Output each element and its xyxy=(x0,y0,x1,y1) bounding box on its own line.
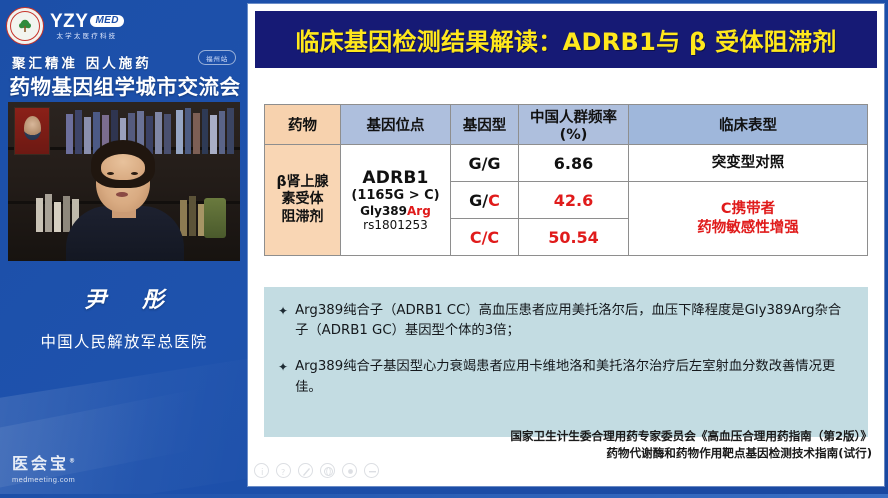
pen-icon[interactable] xyxy=(298,463,313,478)
drug-line-1: β肾上腺 xyxy=(276,174,328,190)
help-icon[interactable]: ? xyxy=(276,463,291,478)
cell-genotype-row2: G/C xyxy=(451,182,519,219)
event-title: 药物基因组学城市交流会 xyxy=(9,70,241,100)
record-icon[interactable] xyxy=(342,463,357,478)
screen-root: YZY MED 太学太医疗科技 聚汇精准 因人施药 福州站 药物基因组学城市交流… xyxy=(0,0,888,498)
cell-frequency-row2: 42.6 xyxy=(519,182,629,219)
citation-line-2: 药物代谢酶和药物作用靶点基因检测技术指南(试行) xyxy=(432,445,872,462)
info-icon[interactable]: i xyxy=(254,463,269,478)
frequency-header-line1: 中国人群频率 xyxy=(530,110,617,126)
phenotype-merged-line1: C携带者 xyxy=(721,201,775,217)
slide-title-bar: 临床基因检测结果解读：ADRB1与 β 受体阻滞剂 xyxy=(255,11,877,68)
svg-text:i: i xyxy=(261,468,264,477)
cell-genotype-row1: G/G xyxy=(451,145,519,182)
watermark: 医会宝® medmeeting.com xyxy=(12,450,75,484)
diamond-bullet-icon: ✦ xyxy=(278,301,288,341)
minus-icon[interactable] xyxy=(364,463,379,478)
brand-subtitle: 太学太医疗科技 xyxy=(50,34,124,41)
drug-line-3: 阻滞剂 xyxy=(282,209,324,225)
genotype-text-1: G/G xyxy=(468,154,500,173)
table-row: β肾上腺 素受体 阻滞剂 ADRB1 (1165G > C) Gly389Arg… xyxy=(265,145,868,182)
speaker-mouth xyxy=(116,192,128,197)
genotype-text-2: G/ xyxy=(469,191,488,210)
column-header-genotype: 基因型 xyxy=(451,105,519,145)
cell-phenotype-row1: 突变型对照 xyxy=(629,145,868,182)
books-group-upper-right xyxy=(176,108,234,154)
list-item: ✦ Arg389纯合子（ADRB1 CC）高血压患者应用美托洛尔后，血压下降程度… xyxy=(278,301,852,341)
column-header-phenotype: 临床表型 xyxy=(629,105,868,145)
cell-locus: ADRB1 (1165G > C) Gly389Arg rs1801253 xyxy=(341,145,451,256)
city-badge: 福州站 xyxy=(198,50,236,65)
slide-area[interactable]: 临床基因检测结果解读：ADRB1与 β 受体阻滞剂 药物 基因位点 基因型 中国… xyxy=(248,4,884,486)
note-text-1: Arg389纯合子（ADRB1 CC）高血压患者应用美托洛尔后，血压下降程度是G… xyxy=(295,301,852,341)
citation-line-1: 国家卫生计生委合理用药专家委员会《高血压合理用药指南（第2版）》 xyxy=(432,428,872,445)
framed-portrait-decor xyxy=(14,107,50,155)
playback-control-overlay[interactable]: i ? xyxy=(254,463,379,478)
left-branding-panel: YZY MED 太学太医疗科技 聚汇精准 因人施药 福州站 药物基因组学城市交流… xyxy=(0,0,248,498)
bottom-accent-strip xyxy=(0,494,888,498)
brand-name-text: YZY xyxy=(50,12,88,31)
globe-icon[interactable] xyxy=(320,463,335,478)
table-header-row: 药物 基因位点 基因型 中国人群频率 (%) 临床表型 xyxy=(265,105,868,145)
note-text-2: Arg389纯合子基因型心力衰竭患者应用卡维地洛和美托洛尔治疗后左室射血分数改善… xyxy=(295,357,852,397)
speaker-video-feed[interactable] xyxy=(8,102,240,261)
column-header-drug: 药物 xyxy=(265,105,341,145)
locus-rsid: rs1801253 xyxy=(343,218,448,232)
registered-mark-icon: ® xyxy=(69,458,75,465)
notes-panel: ✦ Arg389纯合子（ADRB1 CC）高血压患者应用美托洛尔后，血压下降程度… xyxy=(264,287,868,437)
genotype-red-3: C xyxy=(487,228,499,247)
cell-phenotype-merged: C携带者 药物敏感性增强 xyxy=(629,182,868,256)
locus-protein-suffix: Arg xyxy=(407,204,431,218)
cell-genotype-row3: C/C xyxy=(451,219,519,256)
genotype-red-2: C xyxy=(488,191,500,210)
brand-badge: MED xyxy=(90,15,123,27)
watermark-brand: 医会宝® xyxy=(12,450,75,474)
column-header-locus: 基因位点 xyxy=(341,105,451,145)
tree-seal-icon xyxy=(6,7,44,45)
brand-wordmark: YZY MED 太学太医疗科技 xyxy=(50,12,124,41)
citation-block: 国家卫生计生委合理用药专家委员会《高血压合理用药指南（第2版）》 药物代谢酶和药… xyxy=(432,428,872,462)
speaker-name: 尹 彤 xyxy=(0,282,248,314)
phenotype-merged-line2: 药物敏感性增强 xyxy=(697,220,799,236)
watermark-url: medmeeting.com xyxy=(12,475,75,484)
event-tagline: 聚汇精准 因人施药 xyxy=(12,52,152,72)
speaker-hair xyxy=(91,140,155,188)
cell-frequency-row1: 6.86 xyxy=(519,145,629,182)
diamond-bullet-icon: ✦ xyxy=(278,357,288,397)
frequency-header-line2: (%) xyxy=(560,127,588,143)
plant-decor xyxy=(204,198,226,238)
list-item: ✦ Arg389纯合子基因型心力衰竭患者应用卡维地洛和美托洛尔治疗后左室射血分数… xyxy=(278,357,852,397)
genotype-text-3: C/ xyxy=(470,228,488,247)
tree-glyph-icon xyxy=(17,18,33,34)
slide-title: 临床基因检测结果解读：ADRB1与 β 受体阻滞剂 xyxy=(295,22,836,57)
cell-frequency-row3: 50.54 xyxy=(519,219,629,256)
watermark-brand-text: 医会宝 xyxy=(12,454,69,473)
locus-variant: (1165G > C) xyxy=(343,188,448,203)
speaker-eye-right xyxy=(131,172,138,175)
column-header-frequency: 中国人群频率 (%) xyxy=(519,105,629,145)
drug-line-2: 素受体 xyxy=(282,191,324,207)
brand-logo-row: YZY MED 太学太医疗科技 xyxy=(6,5,242,47)
brand-name: YZY MED xyxy=(50,12,124,31)
locus-gene-name: ADRB1 xyxy=(343,168,448,188)
speaker-organization: 中国人民解放军总医院 xyxy=(0,330,248,352)
locus-protein-prefix: Gly389 xyxy=(360,204,407,218)
cell-drug: β肾上腺 素受体 阻滞剂 xyxy=(265,145,341,256)
svg-text:?: ? xyxy=(281,468,285,477)
gene-result-table: 药物 基因位点 基因型 中国人群频率 (%) 临床表型 β肾上腺 素受体 阻滞剂 xyxy=(264,104,868,256)
locus-protein-change: Gly389Arg xyxy=(343,204,448,218)
speaker-eye-left xyxy=(107,172,114,175)
